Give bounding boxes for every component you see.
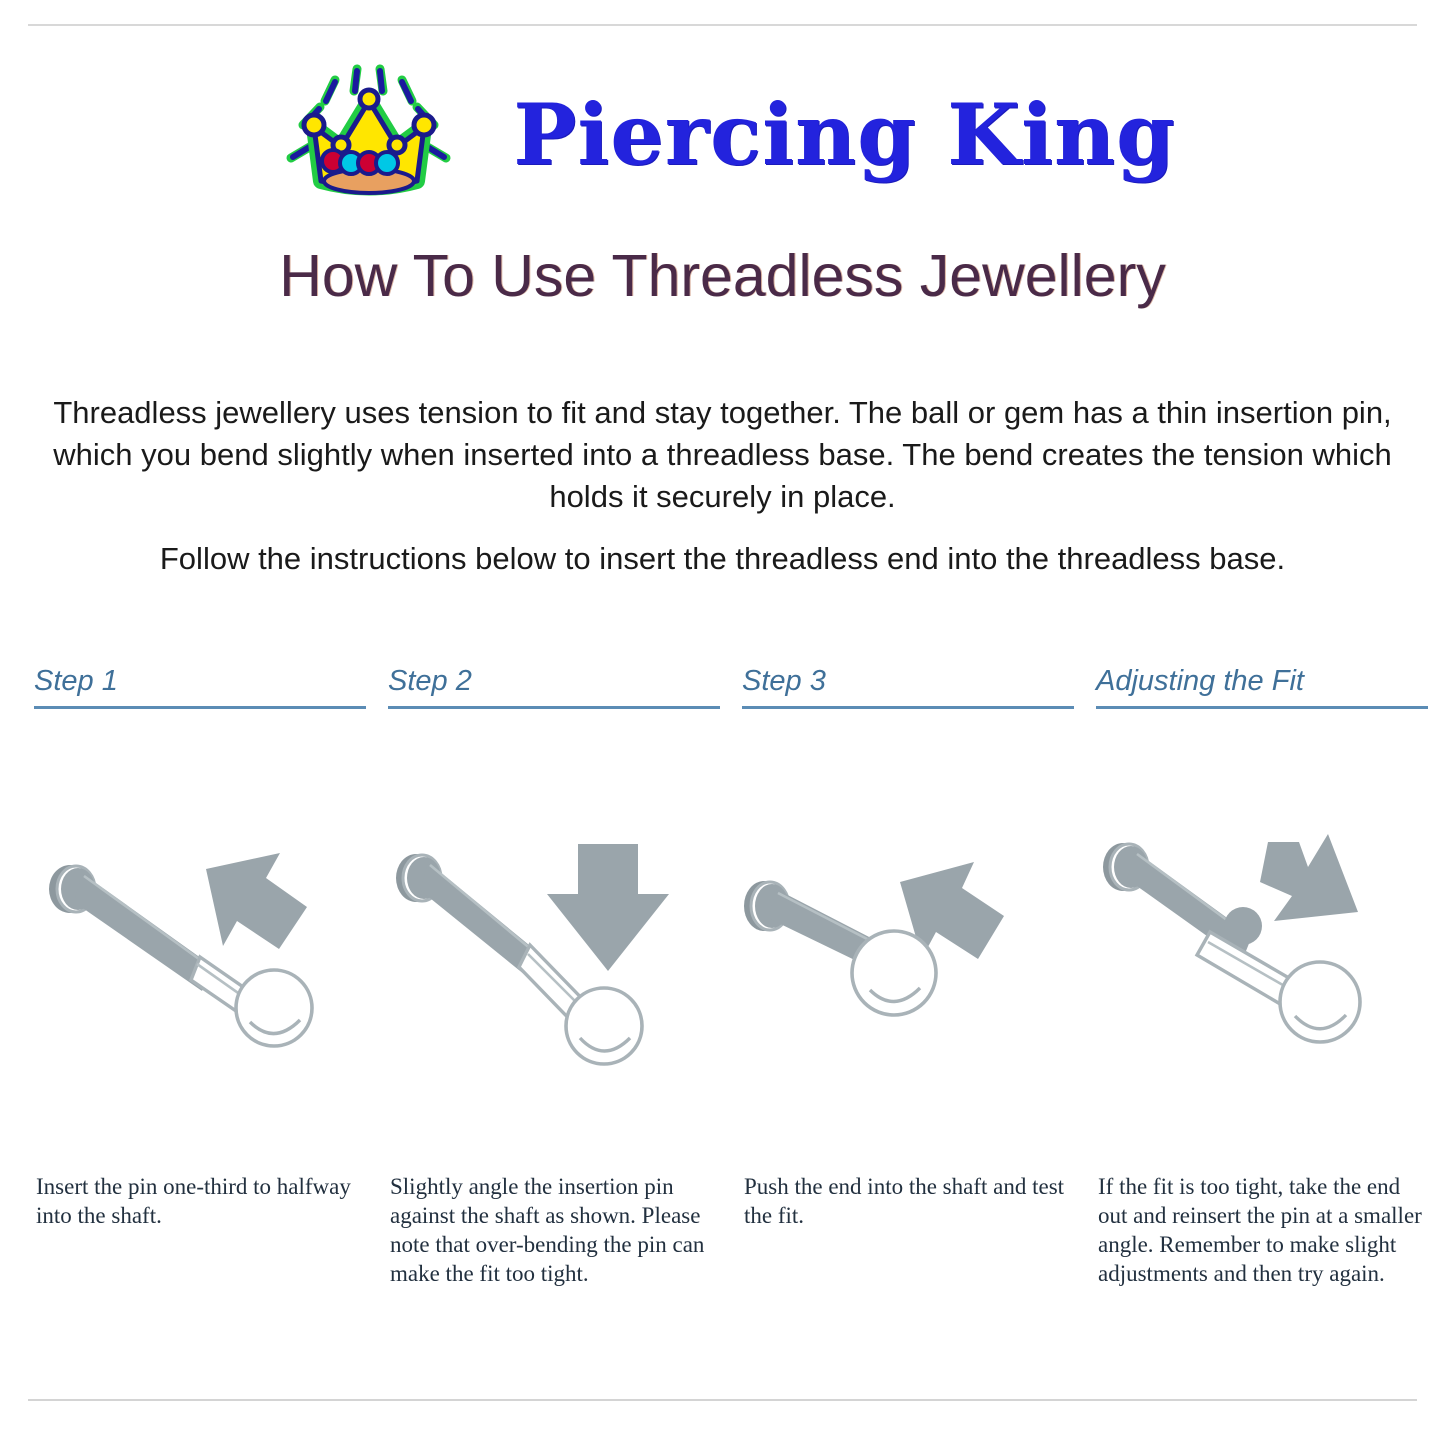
arrow-up-left-icon xyxy=(206,853,307,949)
page-title: How To Use Threadless Jewellery xyxy=(0,246,1445,308)
step-2-heading: Step 2 xyxy=(388,664,720,709)
step-4-heading: Adjusting the Fit xyxy=(1096,664,1428,709)
step-1-heading: Step 1 xyxy=(34,664,366,709)
top-divider xyxy=(28,24,1417,26)
step-column-2: Step 2 xyxy=(388,664,720,1344)
step-column-1: Step 1 xyxy=(34,664,366,1344)
step-3-caption: Push the end into the shaft and test the… xyxy=(744,1172,1074,1230)
bottom-divider xyxy=(28,1399,1417,1401)
instruction-sheet: Piercing King How To Use Threadless Jewe… xyxy=(0,0,1445,1441)
brand-name: Piercing King xyxy=(513,93,1176,183)
step-4-caption: If the fit is too tight, take the end ou… xyxy=(1098,1172,1428,1288)
step-4-figure xyxy=(1096,814,1431,1114)
intro-paragraph: Threadless jewellery uses tension to fit… xyxy=(36,392,1409,518)
arrow-down-right-icon xyxy=(1260,834,1358,921)
step-column-3: Step 3 Push th xyxy=(742,664,1074,1344)
arrow-down-icon xyxy=(547,844,669,971)
step-3-figure xyxy=(742,814,1077,1114)
step-2-figure xyxy=(388,814,723,1114)
step-1-figure xyxy=(34,814,369,1114)
step-1-caption: Insert the pin one-third to halfway into… xyxy=(36,1172,366,1230)
step-column-4: Adjusting the Fit xyxy=(1096,664,1428,1344)
brand-header: Piercing King xyxy=(0,58,1445,218)
step-3-heading: Step 3 xyxy=(742,664,1074,709)
intro-followup: Follow the instructions below to insert … xyxy=(36,538,1409,580)
steps-container: Step 1 xyxy=(34,664,1428,1344)
step-2-caption: Slightly angle the insertion pin against… xyxy=(390,1172,720,1288)
crown-icon xyxy=(269,63,469,213)
